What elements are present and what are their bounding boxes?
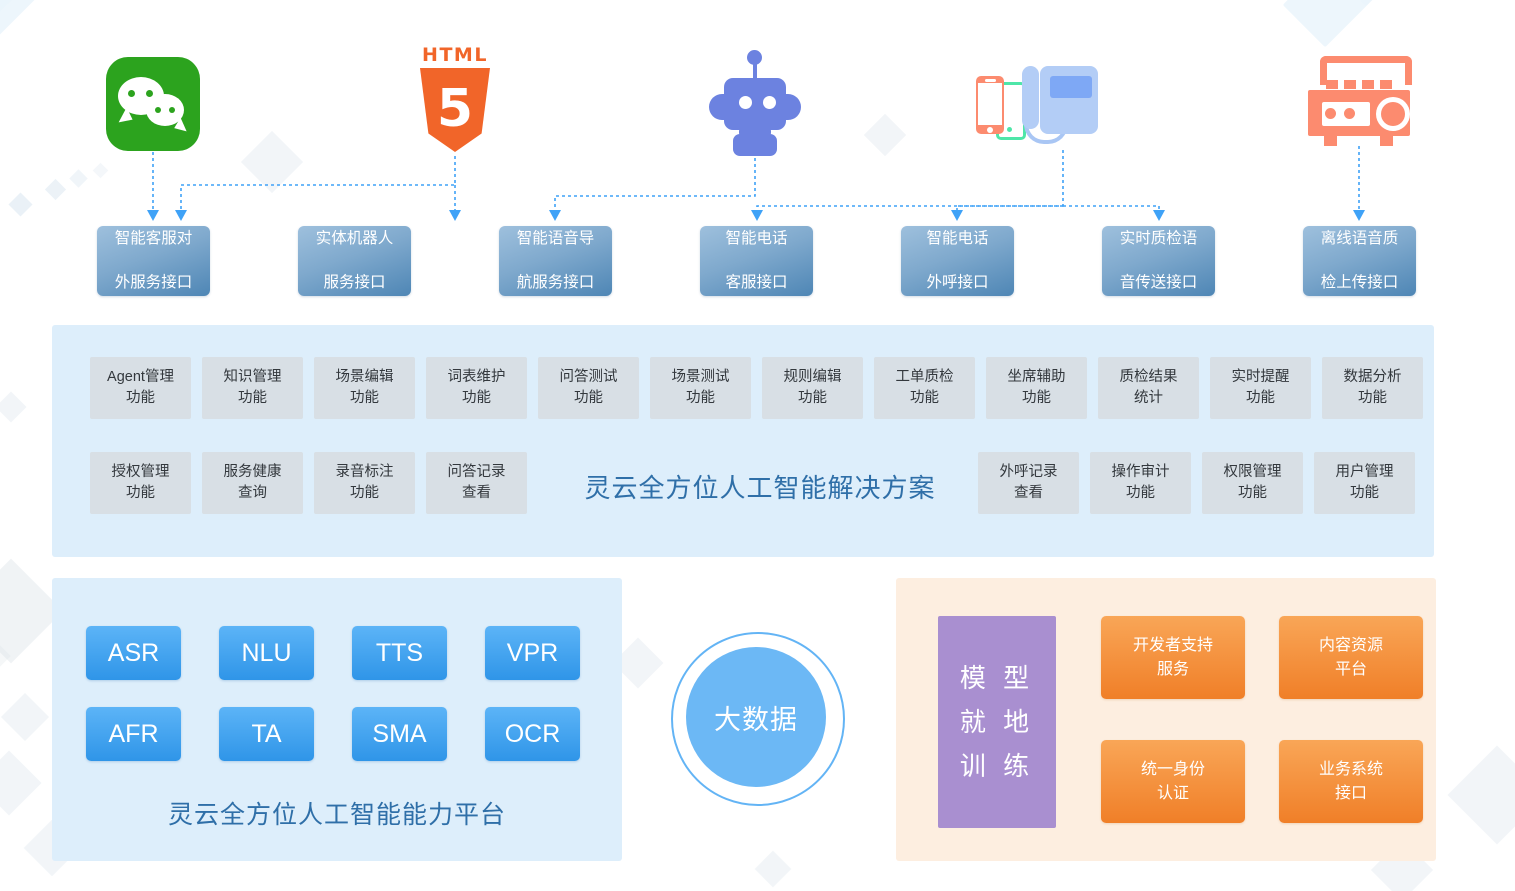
capability-box-tts[interactable]: TTS — [352, 626, 447, 680]
model-local-training-box[interactable]: 模 型 就 地 训 练 — [938, 616, 1056, 828]
service-box-business-system[interactable]: 业务系统接口 — [1279, 740, 1423, 823]
function-cell-scene-edit[interactable]: 场景编辑功能 — [314, 357, 415, 419]
capability-box-vpr[interactable]: VPR — [485, 626, 580, 680]
html5-icon: HTML 5 — [416, 44, 494, 156]
training-line-2: 就 地 — [960, 700, 1034, 744]
capability-box-afr[interactable]: AFR — [86, 707, 181, 761]
channel-icon-telephone — [972, 56, 1102, 150]
channel-icon-robot — [701, 48, 809, 152]
bigdata-circle[interactable]: 大数据 — [686, 647, 826, 787]
channel-icon-html5: HTML 5 — [416, 44, 494, 156]
capability-box-nlu[interactable]: NLU — [219, 626, 314, 680]
function-cell-operation-audit[interactable]: 操作审计功能 — [1090, 452, 1191, 514]
interface-line-1: 实体机器人 — [312, 228, 398, 250]
interface-box-offline-qc[interactable]: 离线语音质检上传接口 — [1303, 226, 1416, 296]
function-cell-user-management[interactable]: 用户管理功能 — [1314, 452, 1415, 514]
interface-line-1: 智能电话 — [922, 228, 992, 250]
function-cell-service-health[interactable]: 服务健康查询 — [202, 452, 303, 514]
interface-line-1: 离线语音质 — [1317, 228, 1403, 250]
interface-line-1: 智能电话 — [721, 228, 791, 250]
interface-line-2: 客服接口 — [721, 272, 791, 294]
function-cell-permission-management[interactable]: 权限管理功能 — [1202, 452, 1303, 514]
capability-box-asr[interactable]: ASR — [86, 626, 181, 680]
service-box-content-resource[interactable]: 内容资源平台 — [1279, 616, 1423, 699]
solution-panel: Agent管理功能 知识管理功能 场景编辑功能 词表维护功能 问答测试功能 场景… — [52, 325, 1434, 557]
interface-box-voice-navigation[interactable]: 智能语音导航服务接口 — [499, 226, 612, 296]
training-line-3: 训 练 — [960, 744, 1034, 788]
capability-box-sma[interactable]: SMA — [352, 707, 447, 761]
service-box-developer-support[interactable]: 开发者支持服务 — [1101, 616, 1245, 699]
interface-line-2: 检上传接口 — [1317, 272, 1403, 294]
solution-function-row-2-right: 外呼记录查看 操作审计功能 权限管理功能 用户管理功能 — [978, 452, 1415, 514]
channel-icon-wechat — [106, 55, 200, 151]
interface-line-1: 实时质检语 — [1116, 228, 1202, 250]
telephone-icon — [972, 56, 1102, 150]
function-cell-agent-management[interactable]: Agent管理功能 — [90, 357, 191, 419]
function-cell-outbound-records[interactable]: 外呼记录查看 — [978, 452, 1079, 514]
solution-function-row-1: Agent管理功能 知识管理功能 场景编辑功能 词表维护功能 问答测试功能 场景… — [90, 357, 1423, 419]
html5-wordmark: HTML — [416, 44, 494, 66]
html5-digit: 5 — [420, 78, 490, 142]
training-line-1: 模 型 — [960, 656, 1034, 700]
function-cell-knowledge-management[interactable]: 知识管理功能 — [202, 357, 303, 419]
interface-line-2: 外服务接口 — [111, 272, 197, 294]
interface-box-physical-robot[interactable]: 实体机器人服务接口 — [298, 226, 411, 296]
function-cell-authorization-management[interactable]: 授权管理功能 — [90, 452, 191, 514]
function-cell-scene-test[interactable]: 场景测试功能 — [650, 357, 751, 419]
wechat-icon — [106, 57, 200, 151]
interface-line-2: 航服务接口 — [513, 272, 599, 294]
function-cell-agent-assist[interactable]: 坐席辅助功能 — [986, 357, 1087, 419]
function-cell-ticket-qc[interactable]: 工单质检功能 — [874, 357, 975, 419]
function-cell-qa-records[interactable]: 问答记录查看 — [426, 452, 527, 514]
interface-box-realtime-qc[interactable]: 实时质检语音传送接口 — [1102, 226, 1215, 296]
function-cell-data-analysis[interactable]: 数据分析功能 — [1322, 357, 1423, 419]
interface-line-2: 外呼接口 — [922, 272, 992, 294]
interface-line-1: 智能语音导 — [513, 228, 599, 250]
interface-line-2: 服务接口 — [312, 272, 398, 294]
capability-box-ta[interactable]: TA — [219, 707, 314, 761]
solution-function-row-2-left: 授权管理功能 服务健康查询 录音标注功能 问答记录查看 — [90, 452, 527, 514]
channel-icon-radio — [1306, 52, 1412, 146]
interface-box-customer-service[interactable]: 智能客服对外服务接口 — [97, 226, 210, 296]
function-cell-rule-edit[interactable]: 规则编辑功能 — [762, 357, 863, 419]
function-cell-recording-annotation[interactable]: 录音标注功能 — [314, 452, 415, 514]
function-cell-qc-result-stats[interactable]: 质检结果统计 — [1098, 357, 1199, 419]
function-cell-realtime-alert[interactable]: 实时提醒功能 — [1210, 357, 1311, 419]
interface-line-1: 智能客服对 — [111, 228, 197, 250]
function-cell-lexicon-maintenance[interactable]: 词表维护功能 — [426, 357, 527, 419]
radio-recorder-icon — [1306, 52, 1412, 146]
function-cell-qa-test[interactable]: 问答测试功能 — [538, 357, 639, 419]
capability-panel-title: 灵云全方位人工智能能力平台 — [52, 795, 622, 831]
service-box-unified-identity[interactable]: 统一身份认证 — [1101, 740, 1245, 823]
interface-box-phone-service[interactable]: 智能电话客服接口 — [700, 226, 813, 296]
capability-box-ocr[interactable]: OCR — [485, 707, 580, 761]
interface-box-phone-outbound[interactable]: 智能电话外呼接口 — [901, 226, 1014, 296]
robot-icon — [701, 50, 809, 152]
interface-line-2: 音传送接口 — [1116, 272, 1202, 294]
solution-panel-title: 灵云全方位人工智能解决方案 — [560, 468, 960, 505]
